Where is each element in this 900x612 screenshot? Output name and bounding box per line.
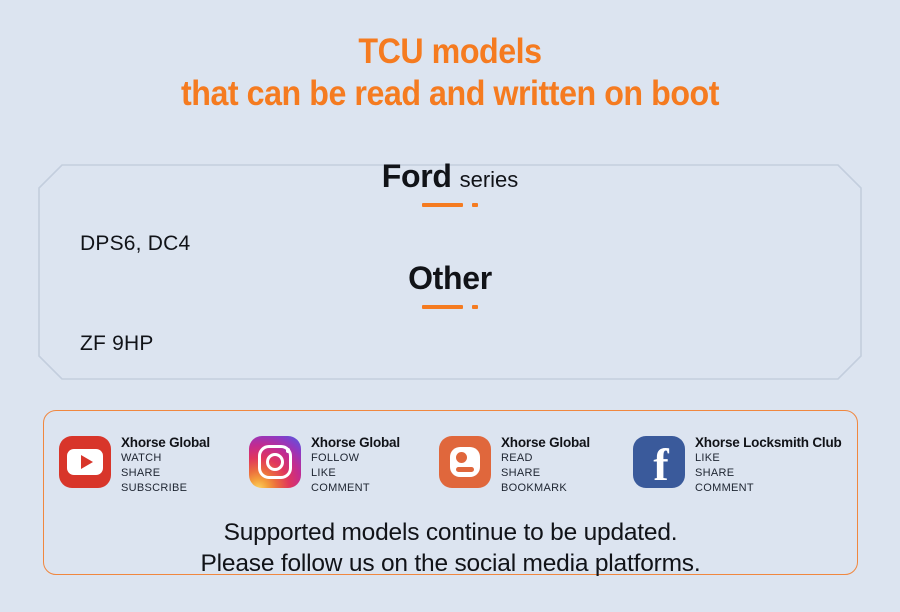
model-item-ford: DPS6, DC4 <box>80 232 190 256</box>
social-account-name: Xhorse Global <box>501 435 590 451</box>
social-action: COMMENT <box>695 481 842 496</box>
section-brand-name: Other <box>408 260 492 296</box>
divider-dot <box>472 203 478 207</box>
social-action: SHARE <box>695 466 842 481</box>
facebook-f-glyph: f <box>633 436 685 488</box>
play-icon <box>81 455 93 469</box>
social-links-row: Xhorse Global WATCH SHARE SUBSCRIBE Xhor… <box>44 434 857 496</box>
page-title: TCU models that can be read and written … <box>0 34 900 111</box>
page-title-line-1: TCU models <box>36 34 864 70</box>
blogger-body-shape <box>450 447 480 477</box>
footer-caption: Supported models continue to be updated.… <box>44 517 857 580</box>
social-action: SHARE <box>121 466 210 481</box>
page-title-line-2: that can be read and written on boot <box>36 76 864 112</box>
social-action: SHARE <box>501 466 590 481</box>
social-action: SUBSCRIBE <box>121 481 210 496</box>
social-account-name: Xhorse Global <box>311 435 400 451</box>
social-item-instagram[interactable]: Xhorse Global FOLLOW LIKE COMMENT <box>249 434 439 496</box>
footer-caption-line-2: Please follow us on the social media pla… <box>44 548 857 579</box>
social-text-youtube: Xhorse Global WATCH SHARE SUBSCRIBE <box>121 434 210 496</box>
youtube-icon[interactable] <box>59 436 111 488</box>
footer-panel: Xhorse Global WATCH SHARE SUBSCRIBE Xhor… <box>43 410 858 575</box>
social-action: LIKE <box>695 451 842 466</box>
section-divider-other <box>0 305 900 309</box>
section-brand-name: Ford <box>382 158 452 194</box>
social-item-youtube[interactable]: Xhorse Global WATCH SHARE SUBSCRIBE <box>59 434 249 496</box>
social-action: BOOKMARK <box>501 481 590 496</box>
divider-dot <box>472 305 478 309</box>
blogger-eye-shape <box>456 452 467 463</box>
social-item-blogger[interactable]: Xhorse Global READ SHARE BOOKMARK <box>439 434 633 496</box>
instagram-lens-shape <box>266 453 284 471</box>
social-text-instagram: Xhorse Global FOLLOW LIKE COMMENT <box>311 434 400 496</box>
divider-bar <box>422 305 463 309</box>
section-other: Other <box>0 262 900 309</box>
footer-caption-line-1: Supported models continue to be updated. <box>44 517 857 548</box>
social-action: WATCH <box>121 451 210 466</box>
section-divider-ford <box>0 203 900 207</box>
section-heading-other: Other <box>0 262 900 294</box>
section-heading-ford: Fordseries <box>0 160 900 192</box>
social-account-name: Xhorse Global <box>121 435 210 451</box>
blogger-icon[interactable] <box>439 436 491 488</box>
social-text-facebook: Xhorse Locksmith Club LIKE SHARE COMMENT <box>695 434 842 496</box>
section-ford: Fordseries <box>0 160 900 207</box>
model-item-other: ZF 9HP <box>80 332 154 356</box>
social-action: FOLLOW <box>311 451 400 466</box>
social-item-facebook[interactable]: f Xhorse Locksmith Club LIKE SHARE COMME… <box>633 434 853 496</box>
blogger-mouth-shape <box>456 467 474 472</box>
divider-bar <box>422 203 463 207</box>
social-action: LIKE <box>311 466 400 481</box>
social-text-blogger: Xhorse Global READ SHARE BOOKMARK <box>501 434 590 496</box>
instagram-icon[interactable] <box>249 436 301 488</box>
facebook-icon[interactable]: f <box>633 436 685 488</box>
social-action: COMMENT <box>311 481 400 496</box>
social-action: READ <box>501 451 590 466</box>
social-account-name: Xhorse Locksmith Club <box>695 435 842 451</box>
instagram-dot-shape <box>286 448 291 453</box>
section-brand-suffix: series <box>460 167 519 192</box>
